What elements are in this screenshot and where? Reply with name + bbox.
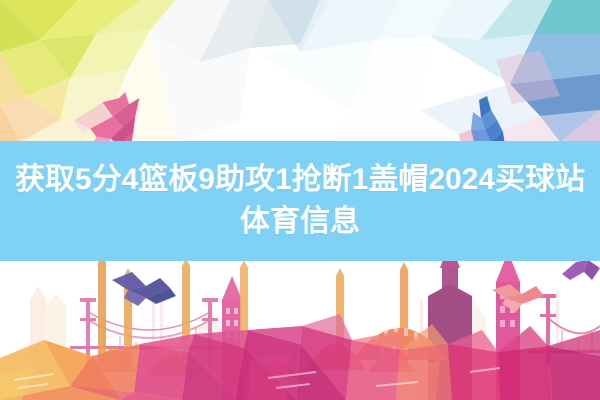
headline-band: 获取5分4篮板9助攻1抢断1盖帽2024买球站体育信息	[0, 141, 600, 261]
promo-banner: 获取5分4篮板9助攻1抢断1盖帽2024买球站体育信息	[0, 0, 600, 400]
headline-text: 获取5分4篮板9助攻1抢断1盖帽2024买球站体育信息	[8, 159, 592, 243]
